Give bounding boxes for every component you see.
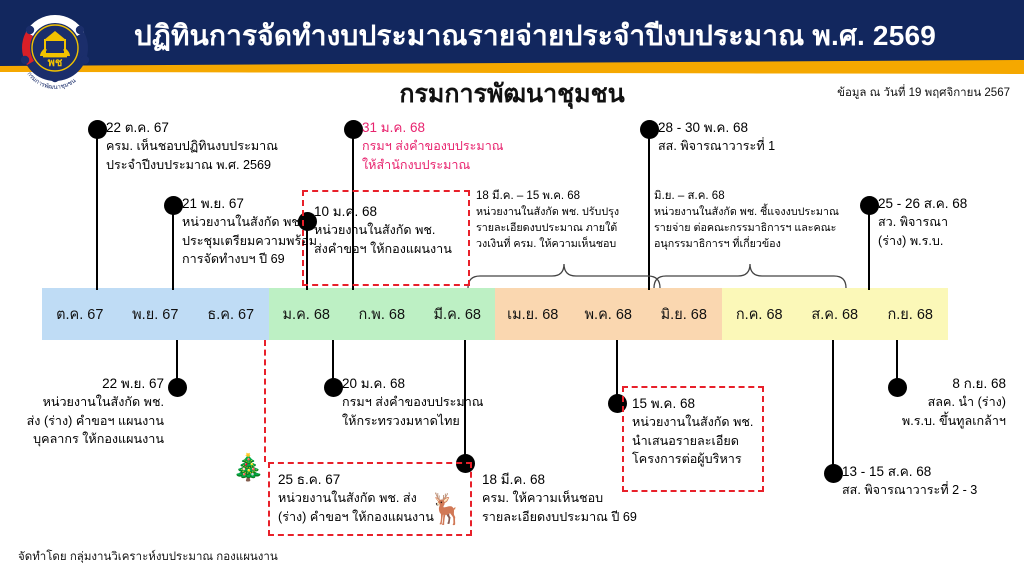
timeline-month-label: ก.ค. 68: [736, 303, 783, 326]
callout-date: 21 พ.ย. 67: [182, 194, 317, 213]
callout-10jan68: 10 ม.ค. 68 หน่วยงานในสังกัด พช. ส่งคำขอฯ…: [314, 202, 452, 258]
callout-line: ประชุมเตรียมความพร้อม: [182, 232, 317, 250]
callout-25-26aug68: 25 - 26 ส.ค. 68 สว. พิจารณา (ร่าง) พ.ร.บ…: [878, 194, 967, 250]
callout-line: ประจำปีงบประมาณ พ.ศ. 2569: [106, 156, 278, 174]
callout-line: รายละเอียดงบประมาณ ภายใต้: [476, 220, 619, 236]
brace-jun-aug68: [652, 262, 852, 295]
footer-credit: จัดทำโดย กลุ่มงานวิเคราะห์งบประมาณ กองแผ…: [18, 548, 278, 566]
timeline-month-8[interactable]: พ.ค. 68: [571, 288, 647, 340]
callout-13-15aug68: 13 - 15 ส.ค. 68 สส. พิจารณาวาระที่ 2 - 3: [842, 462, 977, 500]
callout-date: 31 ม.ค. 68: [362, 118, 504, 137]
callout-date: 22 ต.ค. 67: [106, 118, 278, 137]
callout-line: หน่วยงานในสังกัด พช.: [314, 221, 452, 239]
marker-25aug68: [860, 196, 879, 215]
timeline-month-label: ก.พ. 68: [358, 303, 405, 326]
timeline-month-1[interactable]: ต.ค. 67: [42, 288, 118, 340]
timeline-month-label: มี.ค. 68: [434, 303, 481, 326]
callout-line: ครม. เห็นชอบปฏิทินงบประมาณ: [106, 137, 278, 155]
timeline-month-label: เม.ย. 68: [507, 303, 558, 326]
marker-22oct67: [88, 120, 107, 139]
marker-20jan68: [324, 378, 343, 397]
timeline-month-7[interactable]: เม.ย. 68: [495, 288, 571, 340]
callout-line: กรมฯ ส่งคำของบประมาณ: [362, 137, 504, 155]
callout-date: มิ.ย. – ส.ค. 68: [654, 188, 839, 204]
callout-line: หน่วยงานในสังกัด พช. ส่ง: [278, 489, 434, 507]
callout-line: กรมฯ ส่งคำของบประมาณ: [342, 393, 484, 411]
timeline-month-label: ม.ค. 68: [283, 303, 330, 326]
timeline-month-label: มิ.ย. 68: [661, 303, 707, 326]
callout-line: หน่วยงานในสังกัด พช.: [0, 393, 164, 411]
callout-line: สว. พิจารณา: [878, 213, 967, 231]
marker-28may68: [640, 120, 659, 139]
callout-line: วงเงินที่ ครม. ให้ความเห็นชอบ: [476, 236, 619, 252]
page-title: ปฏิทินการจัดทำงบประมาณรายจ่ายประจำปีงบปร…: [110, 14, 960, 58]
callout-date: 13 - 15 ส.ค. 68: [842, 462, 977, 481]
timeline-bar: ต.ค. 67พ.ย. 67ธ.ค. 67ม.ค. 68ก.พ. 68มี.ค.…: [42, 288, 948, 340]
callout-line: การจัดทำงบฯ ปี 69: [182, 250, 317, 268]
callout-line: หน่วยงานในสังกัด พช.: [182, 213, 317, 231]
callout-date: 10 ม.ค. 68: [314, 202, 452, 221]
callout-date: 20 ม.ค. 68: [342, 374, 484, 393]
timeline-month-label: พ.ค. 68: [585, 303, 632, 326]
callout-jun-aug68: มิ.ย. – ส.ค. 68 หน่วยงานในสังกัด พช. ชี้…: [654, 188, 839, 252]
callout-line: รายจ่าย ต่อคณะกรรมาธิการฯ และคณะ: [654, 220, 839, 236]
timeline-month-label: ธ.ค. 67: [207, 303, 254, 326]
stem-15may68: [616, 340, 618, 402]
brace-mar-may68: [466, 262, 666, 295]
callout-line: พ.ร.บ. ขึ้นทูลเกล้าฯ: [700, 412, 1006, 430]
marker-22nov67: [168, 378, 187, 397]
stem-22oct67: [96, 130, 98, 290]
callout-date: 8 ก.ย. 68: [700, 374, 1006, 393]
callout-line: หน่วยงานในสังกัด พช. ปรับปรุง: [476, 204, 619, 220]
marker-31jan68: [344, 120, 363, 139]
timeline-month-5[interactable]: ก.พ. 68: [344, 288, 420, 340]
timeline-month-label: ก.ย. 68: [888, 303, 934, 326]
stem-21nov67: [172, 206, 174, 290]
timeline-month-3[interactable]: ธ.ค. 67: [193, 288, 269, 340]
callout-21nov67: 21 พ.ย. 67 หน่วยงานในสังกัด พช. ประชุมเต…: [182, 194, 317, 268]
callout-20jan68: 20 ม.ค. 68 กรมฯ ส่งคำของบประมาณ ให้กระทร…: [342, 374, 484, 430]
timeline-month-6[interactable]: มี.ค. 68: [420, 288, 496, 340]
callout-28-30may68: 28 - 30 พ.ค. 68 สส. พิจารณาวาระที่ 1: [658, 118, 775, 156]
callout-18mar68: 18 มี.ค. 68 ครม. ให้ความเห็นชอบ รายละเอี…: [482, 470, 637, 526]
callout-line: สส. พิจารณาวาระที่ 1: [658, 137, 775, 155]
marker-21nov67: [164, 196, 183, 215]
timeline-month-label: ต.ค. 67: [56, 303, 103, 326]
callout-line: สส. พิจารณาวาระที่ 2 - 3: [842, 481, 977, 499]
timeline-month-2[interactable]: พ.ย. 67: [118, 288, 194, 340]
callout-date: 25 - 26 ส.ค. 68: [878, 194, 967, 213]
timeline-month-9[interactable]: มิ.ย. 68: [646, 288, 722, 340]
callout-date: 25 ธ.ค. 67: [278, 470, 434, 489]
callout-line: บุคลากร ให้กองแผนงาน: [0, 430, 164, 448]
svg-text:พช: พช: [48, 57, 63, 69]
callout-line: ส่งคำขอฯ ให้กองแผนงาน: [314, 240, 452, 258]
callout-25dec67: 25 ธ.ค. 67 หน่วยงานในสังกัด พช. ส่ง (ร่า…: [278, 470, 434, 526]
data-as-of-stamp: ข้อมูล ณ วันที่ 19 พฤศจิกายน 2567: [837, 84, 1010, 102]
callout-date: 18 มี.ค. 68: [482, 470, 637, 489]
cdd-emblem-logo: พช กรมการพัฒนาชุมชน: [12, 8, 98, 94]
callout-date: 22 พ.ย. 67: [0, 374, 164, 393]
timeline-month-label: ส.ค. 68: [811, 303, 858, 326]
callout-22oct67: 22 ต.ค. 67 ครม. เห็นชอบปฏิทินงบประมาณ ปร…: [106, 118, 278, 174]
callout-line: โครงการต่อผู้บริหาร: [632, 450, 753, 468]
callout-line: ให้กระทรวงมหาดไทย: [342, 412, 484, 430]
stem-25dec67: [264, 340, 266, 462]
callout-line: สลค. นำ (ร่าง): [700, 393, 1006, 411]
stem-25aug68: [868, 206, 870, 290]
callout-line: รายละเอียดงบประมาณ ปี 69: [482, 508, 637, 526]
callout-date: 18 มี.ค. – 15 พ.ค. 68: [476, 188, 619, 204]
timeline-month-10[interactable]: ก.ค. 68: [722, 288, 798, 340]
callout-line: (ร่าง) พ.ร.บ.: [878, 232, 967, 250]
callout-8sep68: 8 ก.ย. 68 สลค. นำ (ร่าง) พ.ร.บ. ขึ้นทูลเ…: [700, 374, 1006, 430]
callout-line: ส่ง (ร่าง) คำขอฯ แผนงาน: [0, 412, 164, 430]
infographic-canvas: พช กรมการพัฒนาชุมชน ปฏิทินการจัดทำงบประม…: [0, 0, 1024, 576]
callout-31jan68: 31 ม.ค. 68 กรมฯ ส่งคำของบประมาณ ให้สำนัก…: [362, 118, 504, 174]
callout-line: ให้สำนักงบประมาณ: [362, 156, 504, 174]
callout-18mar-15may68: 18 มี.ค. – 15 พ.ค. 68 หน่วยงานในสังกัด พ…: [476, 188, 619, 252]
timeline-month-4[interactable]: ม.ค. 68: [269, 288, 345, 340]
marker-13aug68: [824, 464, 843, 483]
callout-line: หน่วยงานในสังกัด พช. ชี้แจงงบประมาณ: [654, 204, 839, 220]
callout-line: นำเสนอรายละเอียด: [632, 432, 753, 450]
callout-line: อนุกรรมาธิการฯ ที่เกี่ยวข้อง: [654, 236, 839, 252]
callout-line: (ร่าง) คำขอฯ ให้กองแผนงาน: [278, 508, 434, 526]
timeline-month-11[interactable]: ส.ค. 68: [797, 288, 873, 340]
christmas-wreath-decor: 🎄: [232, 452, 264, 483]
callout-date: 28 - 30 พ.ค. 68: [658, 118, 775, 137]
callout-line: ครม. ให้ความเห็นชอบ: [482, 489, 637, 507]
timeline-month-12[interactable]: ก.ย. 68: [873, 288, 949, 340]
callout-22nov67: 22 พ.ย. 67 หน่วยงานในสังกัด พช. ส่ง (ร่า…: [0, 374, 164, 448]
timeline-month-label: พ.ย. 67: [132, 303, 178, 326]
